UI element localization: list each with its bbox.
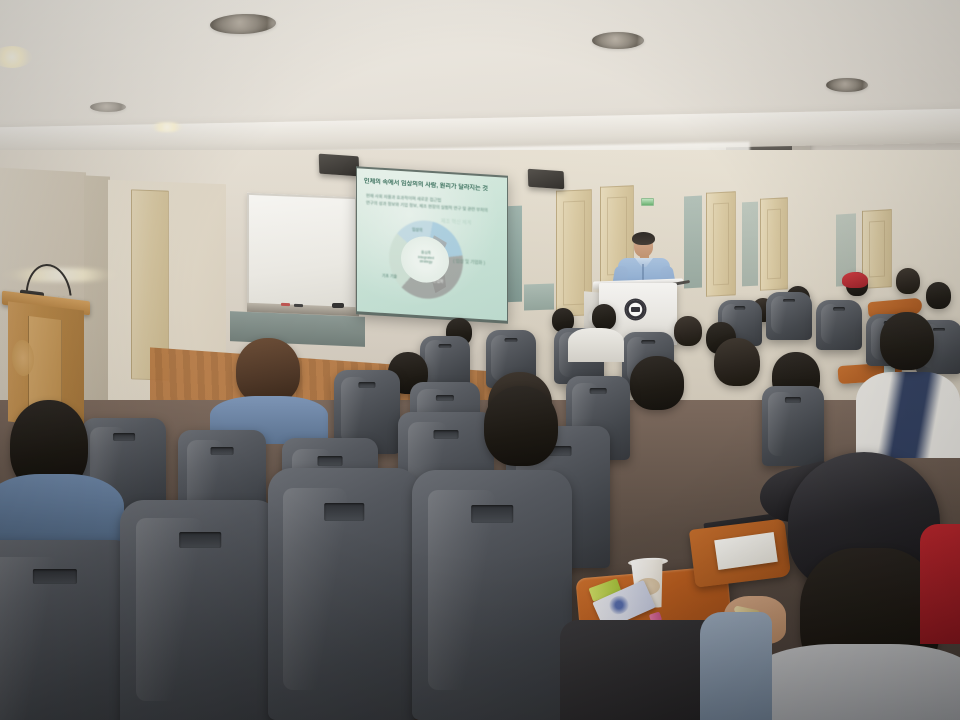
accent-panel (684, 196, 702, 289)
audience-head (592, 304, 616, 330)
audience-head (926, 282, 951, 309)
audience-head (714, 338, 760, 386)
audience-head (236, 338, 300, 404)
wooden-door[interactable] (706, 191, 736, 297)
audience-torso-white-shirt (568, 328, 624, 362)
audience-torso (748, 644, 960, 720)
auditorium-seat[interactable] (412, 470, 572, 720)
audience-head (674, 316, 702, 346)
presenter-hair (632, 232, 655, 245)
university-emblem-icon (626, 300, 645, 319)
audience-torso-striped (856, 372, 960, 458)
audience-torso (700, 612, 772, 720)
air-vent-icon (90, 102, 126, 112)
recessed-downlight-icon (150, 122, 184, 132)
auditorium-seat[interactable] (766, 292, 812, 340)
audience-head (896, 268, 920, 294)
donut-segment-label-top: 임상의 (412, 228, 422, 234)
lecture-hall-photo: 인체의 속에서 임상의의 사람, 원리가 달라지는 것 현재 사회 자율과 효과… (0, 0, 960, 720)
auditorium-seat[interactable] (268, 468, 420, 720)
audience-head (484, 386, 558, 466)
ceiling-speaker-icon (528, 169, 565, 190)
exit-sign-icon (641, 198, 654, 206)
donut-segment-label-right: 산업화 (433, 279, 443, 285)
air-vent-icon (592, 32, 644, 49)
wooden-door[interactable] (760, 197, 788, 290)
wall-panel (84, 175, 110, 412)
audience-head (630, 356, 684, 410)
marker-pen-icon (281, 303, 290, 306)
auditorium-seat[interactable] (920, 524, 960, 644)
auditorium-seat[interactable] (120, 500, 280, 720)
donut-segment-label-left: 기초 기술 (382, 274, 397, 280)
auditorium-seat[interactable] (816, 300, 862, 350)
red-cap-icon (842, 272, 868, 288)
projection-screen: 인체의 속에서 임상의의 사람, 원리가 달라지는 것 현재 사회 자율과 효과… (357, 168, 507, 320)
marker-pen-icon (294, 304, 303, 307)
auditorium-seat[interactable] (762, 386, 824, 466)
accent-panel (742, 202, 758, 287)
auditorium-seat[interactable] (0, 540, 140, 720)
air-vent-icon (826, 78, 868, 92)
audience-head (880, 312, 934, 370)
whiteboard (247, 193, 357, 315)
ceiling-speaker-icon (319, 154, 360, 177)
accent-panel (524, 283, 554, 310)
eraser-icon (332, 303, 344, 308)
